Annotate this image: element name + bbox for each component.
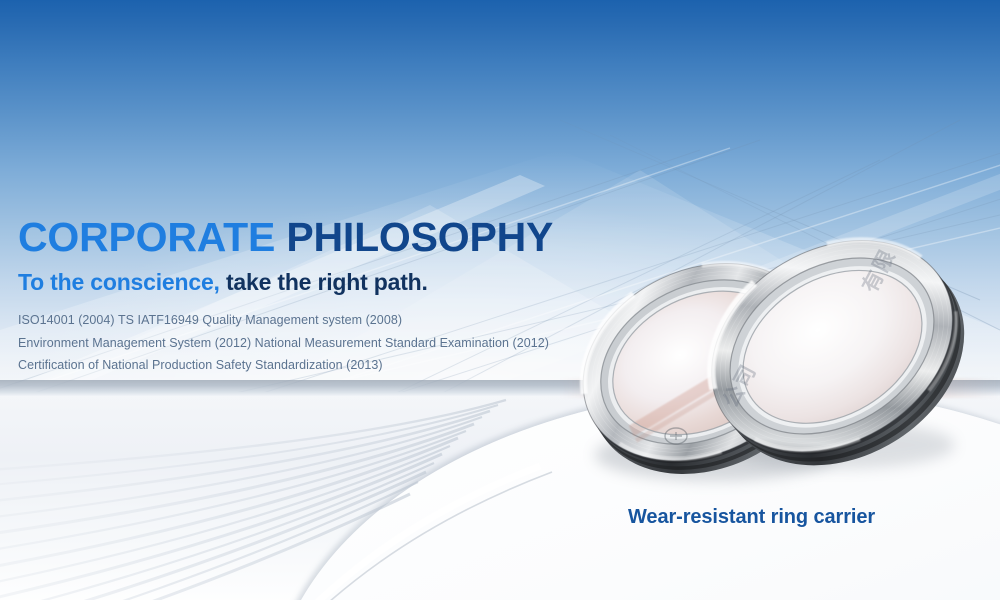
- subheadline-primary: To the conscience,: [18, 269, 220, 295]
- subheadline-secondary: take the right path.: [226, 269, 428, 295]
- headline-primary: CORPORATE: [18, 214, 275, 260]
- product-image-wear-resistant-rings: [540, 230, 1000, 530]
- product-caption: Wear-resistant ring carrier: [628, 506, 875, 529]
- corporate-philosophy-banner: CORPORATE PHILOSOPHY To the conscience, …: [0, 0, 1000, 600]
- headline-secondary: PHILOSOPHY: [286, 214, 553, 260]
